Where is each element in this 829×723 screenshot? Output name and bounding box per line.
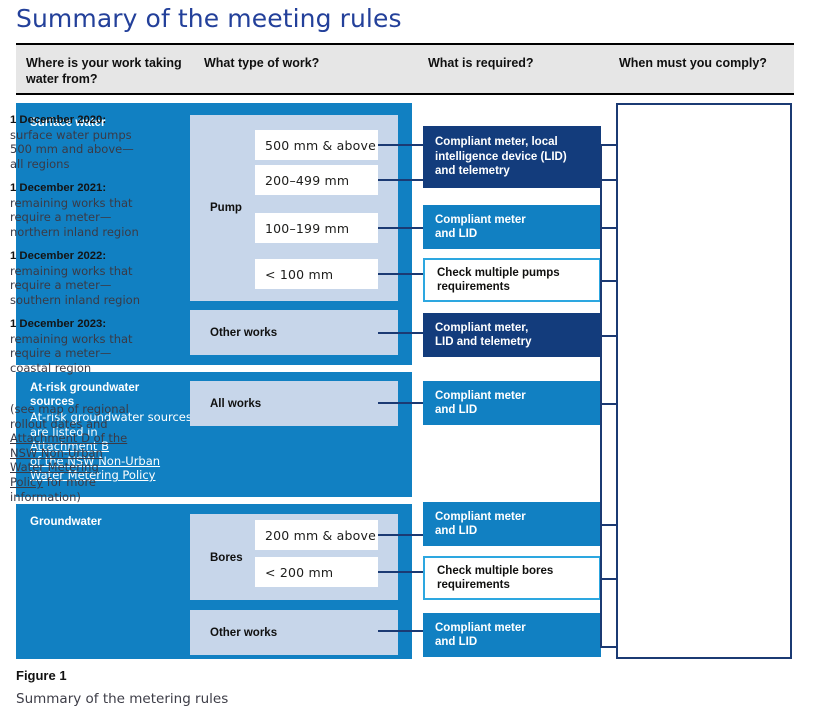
comply-note: (see map of regional rollout dates and A… <box>10 402 168 504</box>
chip-pump-200-499: 200–499 mm <box>255 165 378 195</box>
workgroup-label-all-works: All works <box>210 397 261 411</box>
chip-pump-500: 500 mm & above <box>255 130 378 160</box>
comply-2020-line1: surface water pumps <box>10 128 132 142</box>
comply-2022-line2: require a meter— <box>10 278 111 292</box>
connector-pump-500 <box>378 144 423 146</box>
comply-2021-line2: require a meter— <box>10 210 111 224</box>
column-header-band: Where is your work taking water from? Wh… <box>16 43 794 95</box>
connector-pump-200-499 <box>378 179 423 181</box>
comply-2022-date: 1 December 2022: <box>10 250 106 262</box>
comply-2020: 1 December 2020: surface water pumps 500… <box>10 112 168 171</box>
column-header-comply: When must you comply? <box>619 56 789 72</box>
req-text: Compliant meter,LID and telemetry <box>435 321 532 350</box>
page-title: Summary of the meeting rules <box>16 0 716 38</box>
comply-note-line7: information) <box>10 490 81 504</box>
req-check-multiple-bores: Check multiple boresrequirements <box>423 556 601 600</box>
connector-bores-under-200 <box>378 571 423 573</box>
chip-pump-100-199: 100–199 mm <box>255 213 378 243</box>
panel-label-groundwater: Groundwater <box>30 515 102 529</box>
connector-other-ground <box>378 630 423 632</box>
column-header-requirement: What is required? <box>428 56 613 72</box>
figure-caption: Summary of the metering rules <box>16 691 228 707</box>
link-attachment-d-line4[interactable]: Policy <box>10 475 43 489</box>
connector-other-surface <box>378 332 423 334</box>
comply-2020-line2: 500 mm and above— <box>10 142 134 156</box>
req-meter-lid-4: Compliant meterand LID <box>423 613 601 657</box>
comply-2022: 1 December 2022: remaining works that re… <box>10 248 168 307</box>
req-meter-lid-telemetry-2: Compliant meter,LID and telemetry <box>423 313 601 357</box>
comply-2023-line2: require a meter— <box>10 346 111 360</box>
connector-pump-under-100 <box>378 273 423 275</box>
figure-container: Summary of the meeting rules Where is yo… <box>0 0 829 723</box>
req-check-multiple-pumps: Check multiple pumpsrequirements <box>423 258 601 302</box>
comply-2021-date: 1 December 2021: <box>10 182 106 194</box>
comply-note-line2: rollout dates and <box>10 417 108 431</box>
workgroup-label-bores: Bores <box>210 551 243 565</box>
req-meter-lid-1: Compliant meterand LID <box>423 205 601 249</box>
workgroup-label-pump: Pump <box>210 201 242 215</box>
req-meter-lid-telemetry: Compliant meter, localintelligence devic… <box>423 126 601 188</box>
connector-bores-200 <box>378 534 423 536</box>
req-meter-lid-3: Compliant meterand LID <box>423 502 601 546</box>
comply-2021-line1: remaining works that <box>10 196 133 210</box>
req-text: Compliant meter, localintelligence devic… <box>435 135 567 179</box>
comply-2021-line3: northern inland region <box>10 225 139 239</box>
comply-2020-line3: all regions <box>10 157 69 171</box>
req-text: Compliant meterand LID <box>435 389 526 418</box>
workgroup-label-other-works-ground: Other works <box>210 626 277 640</box>
comply-column <box>616 103 792 659</box>
workgroup-all-works: All works <box>190 381 398 426</box>
comply-2022-line1: remaining works that <box>10 264 133 278</box>
figure-label: Figure 1 <box>16 668 67 683</box>
workgroup-other-works-surface: Other works <box>190 310 398 355</box>
connector-pump-100-199 <box>378 227 423 229</box>
comply-2021: 1 December 2021: remaining works that re… <box>10 180 168 239</box>
link-attachment-d[interactable]: Attachment D of the <box>10 431 127 445</box>
comply-2023-line3: coastal region <box>10 361 91 375</box>
connector-all-works <box>378 402 423 404</box>
req-text: Check multiple pumpsrequirements <box>437 266 560 295</box>
req-text: Compliant meterand LID <box>435 213 526 242</box>
comply-2023: 1 December 2023: remaining works that re… <box>10 316 168 375</box>
comply-2022-line3: southern inland region <box>10 293 140 307</box>
chip-bores-200-above: 200 mm & above <box>255 520 378 550</box>
comply-note-tail: for more <box>43 475 96 489</box>
req-text: Compliant meterand LID <box>435 510 526 539</box>
req-text: Check multiple boresrequirements <box>437 564 553 593</box>
comply-2023-line1: remaining works that <box>10 332 133 346</box>
workgroup-label-other-works-surface: Other works <box>210 326 277 340</box>
req-meter-lid-2: Compliant meterand LID <box>423 381 601 425</box>
comply-spine <box>600 144 602 646</box>
column-header-work-type: What type of work? <box>204 56 424 72</box>
comply-note-line1: (see map of regional <box>10 402 129 416</box>
link-attachment-d-line2[interactable]: NSW Non-Urban <box>10 446 103 460</box>
comply-2020-date: 1 December 2020: <box>10 114 106 126</box>
chip-bores-under-200: < 200 mm <box>255 557 378 587</box>
column-header-source: Where is your work taking water from? <box>26 56 201 87</box>
workgroup-other-works-ground: Other works <box>190 610 398 655</box>
comply-2023-date: 1 December 2023: <box>10 318 106 330</box>
chip-pump-under-100: < 100 mm <box>255 259 378 289</box>
link-attachment-d-line3[interactable]: Water Metering <box>10 460 99 474</box>
req-text: Compliant meterand LID <box>435 621 526 650</box>
